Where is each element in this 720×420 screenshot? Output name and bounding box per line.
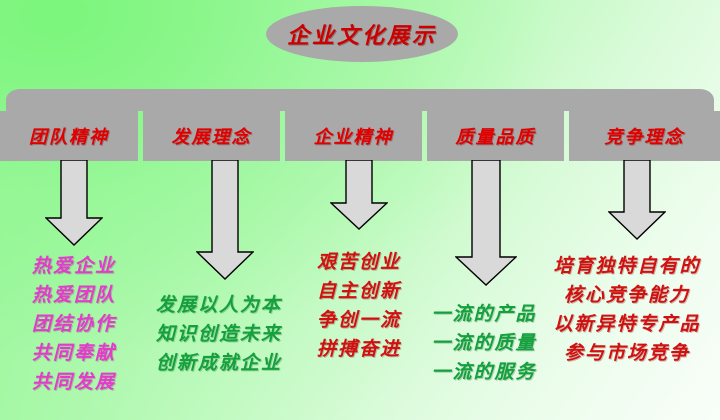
down-arrow-icon-column-3 [330,160,388,230]
text-line: 一流的产品 [420,300,548,329]
text-line: 一流的质量 [420,329,548,358]
text-line: 共同发展 [4,368,144,397]
down-arrow-icon-column-5 [608,160,666,240]
header-label: 发展理念 [172,123,252,149]
text-line: 知识创造未来 [145,320,293,349]
text-line: 一流的服务 [420,358,548,387]
header-box-team-spirit[interactable]: 团队精神 [0,111,138,161]
text-line: 热爱企业 [4,252,144,281]
page-title: 企业文化展示 [287,18,437,50]
header-box-enterprise-spirit[interactable]: 企业精神 [285,111,422,161]
title-ellipse: 企业文化展示 [266,6,458,62]
header-box-development-philosophy[interactable]: 发展理念 [143,111,280,161]
text-line: 争创一流 [295,306,423,335]
header-box-quality[interactable]: 质量品质 [427,111,564,161]
text-column-competition-philosophy: 培育独特自有的 核心竞争能力 以新异特专产品 参与市场竞争 [536,252,718,368]
text-line: 核心竞争能力 [536,281,718,310]
diagram-canvas: 企业文化展示 团队精神 发展理念 企业精神 质量品质 竞争理念 [0,0,720,420]
text-line: 拼搏奋进 [295,335,423,364]
text-line: 培育独特自有的 [536,252,718,281]
text-line: 以新异特专产品 [536,310,718,339]
text-column-enterprise-spirit: 艰苦创业 自主创新 争创一流 拼搏奋进 [295,248,423,364]
text-line: 创新成就企业 [145,349,293,378]
horizontal-connector-bar [6,89,714,111]
header-label: 企业精神 [314,123,394,149]
header-label: 团队精神 [29,123,109,149]
text-column-team-spirit: 热爱企业 热爱团队 团结协作 共同奉献 共同发展 [4,252,144,396]
down-arrow-icon-column-2 [196,160,254,280]
text-line: 艰苦创业 [295,248,423,277]
down-arrow-icon-column-4 [455,160,517,286]
header-label: 质量品质 [456,123,536,149]
text-line: 热爱团队 [4,281,144,310]
text-line: 发展以人为本 [145,291,293,320]
text-line: 自主创新 [295,277,423,306]
text-column-development-philosophy: 发展以人为本 知识创造未来 创新成就企业 [145,291,293,378]
text-line: 参与市场竞争 [536,339,718,368]
text-column-quality: 一流的产品 一流的质量 一流的服务 [420,300,548,387]
header-label: 竞争理念 [605,123,685,149]
text-line: 团结协作 [4,310,144,339]
down-arrow-icon-column-1 [45,160,103,246]
text-line: 共同奉献 [4,339,144,368]
header-box-competition-philosophy[interactable]: 竞争理念 [569,111,720,161]
header-box-row: 团队精神 发展理念 企业精神 质量品质 竞争理念 [0,111,720,161]
